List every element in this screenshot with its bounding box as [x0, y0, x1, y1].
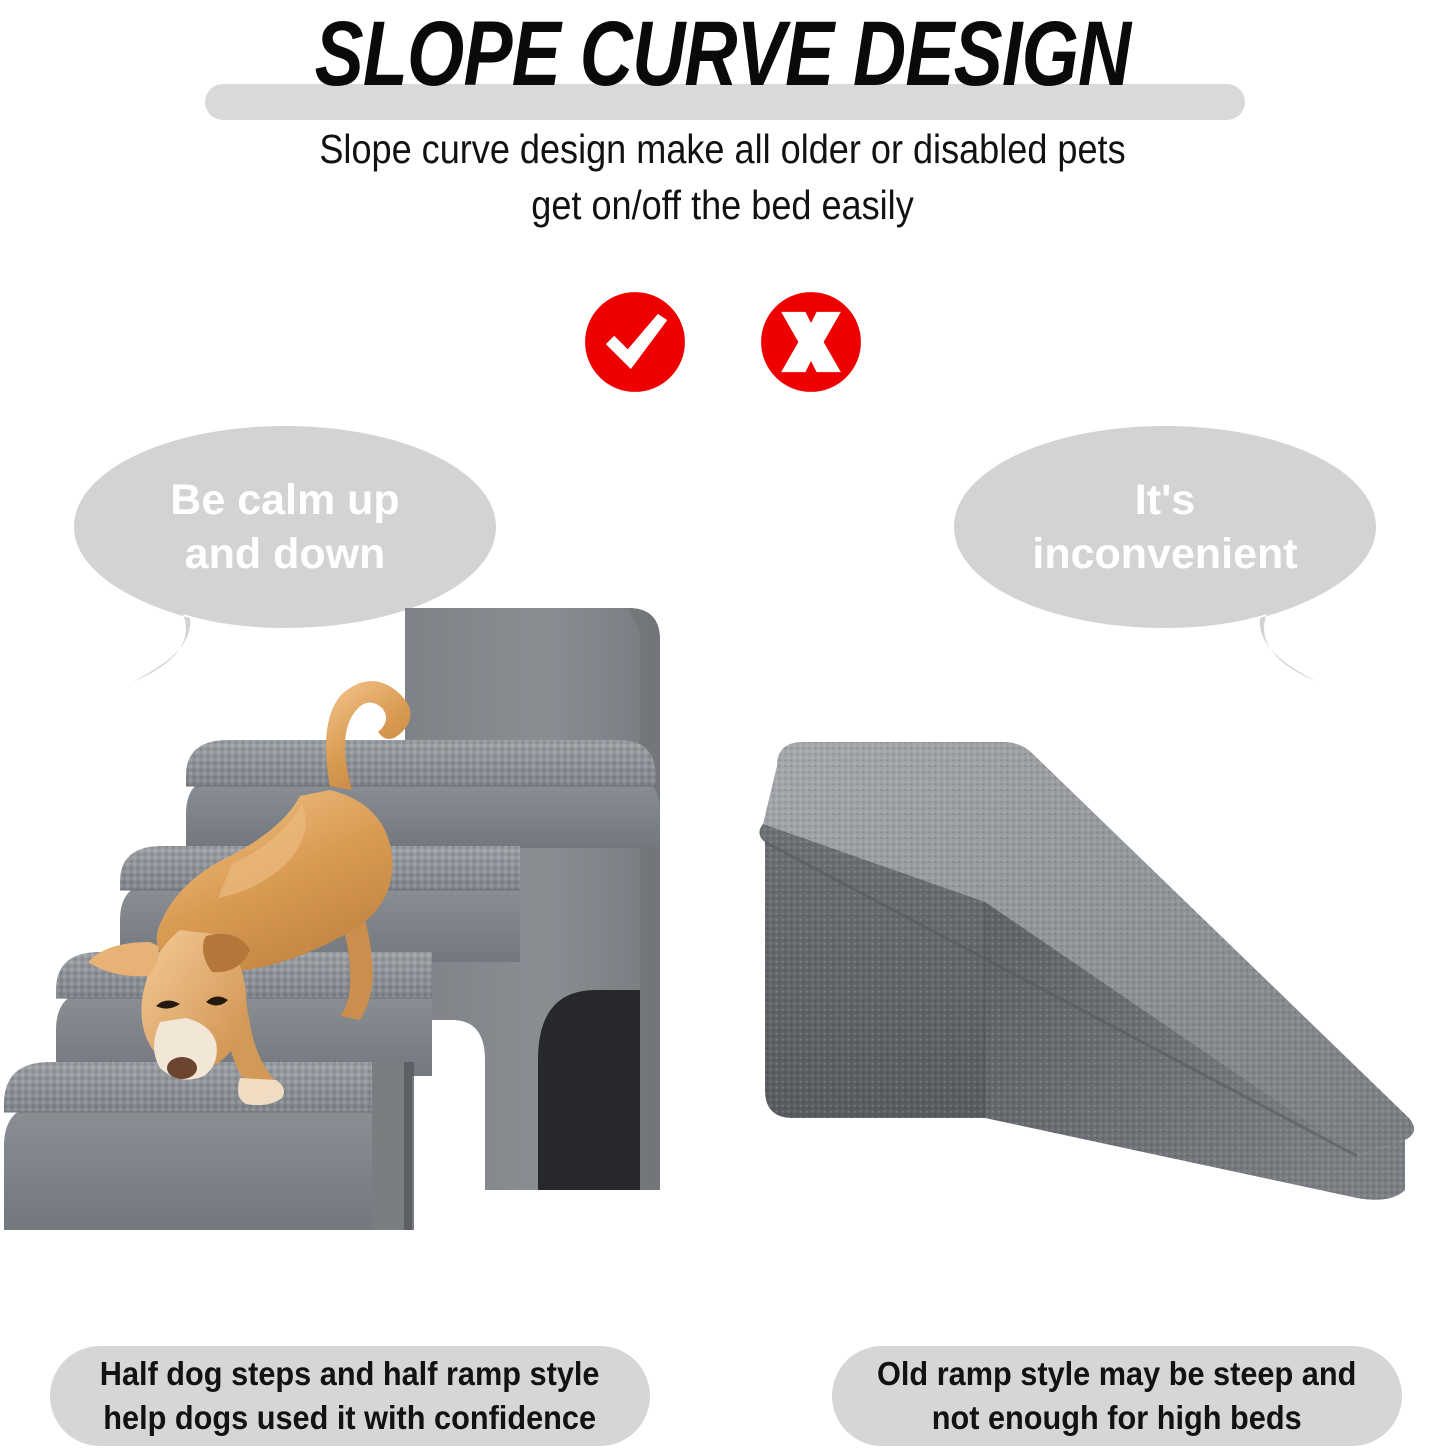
caption-negative: Old ramp style may be steep and not enou… [832, 1346, 1402, 1446]
caption-negative-line-1: Old ramp style may be steep and [877, 1355, 1356, 1392]
old-ramp-photo [745, 720, 1435, 1220]
subtitle-line-2: get on/off the bed easily [87, 178, 1359, 234]
old-ramp-illustration [745, 720, 1435, 1220]
bubble-negative-line-2: inconvenient [1032, 527, 1297, 581]
caption-positive-text: Half dog steps and half ramp style help … [100, 1352, 600, 1439]
caption-negative-line-2: not enough for high beds [932, 1399, 1302, 1436]
verdict-icon-row [0, 283, 1445, 401]
page-title: SLOPE CURVE DESIGN [145, 0, 1301, 108]
product-comparison-stage [0, 590, 1445, 1290]
page-subtitle: Slope curve design make all older or dis… [0, 122, 1445, 234]
cross-circle-icon [759, 290, 863, 394]
bubble-positive-line-1: Be calm up [170, 473, 399, 527]
header-section: SLOPE CURVE DESIGN Slope curve design ma… [0, 0, 1445, 250]
caption-positive-line-2: help dogs used it with confidence [104, 1399, 597, 1436]
caption-positive-line-1: Half dog steps and half ramp style [100, 1355, 600, 1392]
caption-negative-text: Old ramp style may be steep and not enou… [877, 1352, 1356, 1439]
pet-stairs-photo [0, 590, 700, 1290]
check-circle-icon [583, 290, 687, 394]
caption-positive: Half dog steps and half ramp style help … [50, 1346, 650, 1446]
stairs-base-cutout [538, 990, 640, 1190]
bubble-negative-line-1: It's [1135, 473, 1195, 527]
pet-stairs-illustration [0, 590, 700, 1290]
bubble-positive-line-2: and down [185, 527, 386, 581]
subtitle-line-1: Slope curve design make all older or dis… [87, 122, 1359, 178]
